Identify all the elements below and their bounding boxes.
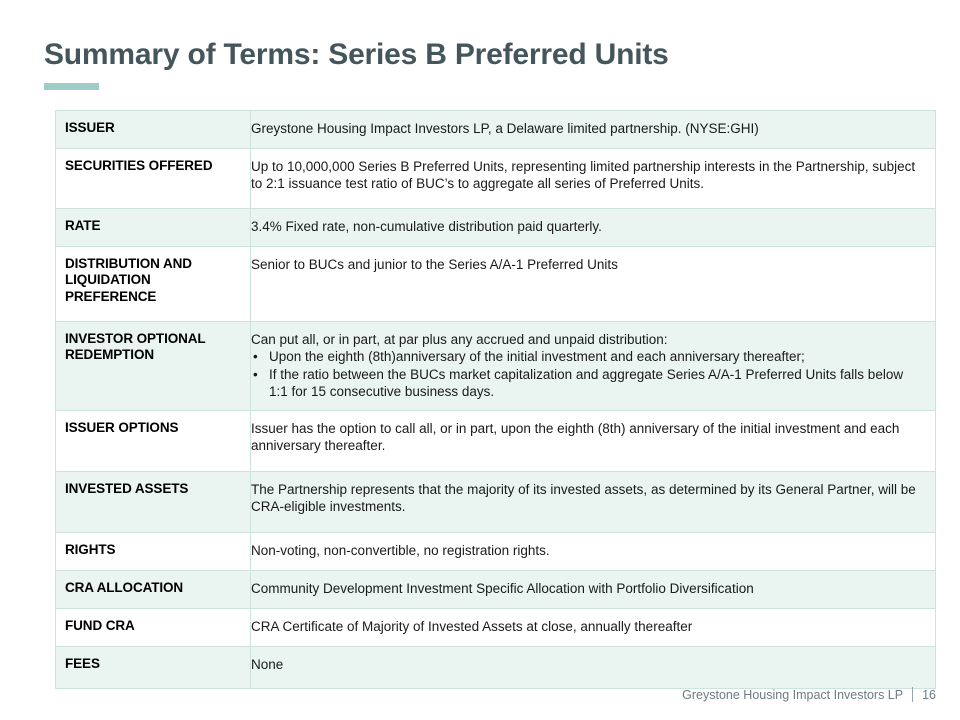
table-row: FUND CRA CRA Certificate of Majority of … — [56, 609, 936, 647]
term-label: RIGHTS — [56, 533, 251, 571]
summary-of-terms-table: ISSUER Greystone Housing Impact Investor… — [55, 110, 936, 689]
bullet-icon: • — [253, 366, 258, 383]
term-label: ISSUER OPTIONS — [56, 411, 251, 472]
term-value-text: CRA Certificate of Majority of Invested … — [251, 618, 925, 635]
table-row: SECURITIES OFFERED Up to 10,000,000 Seri… — [56, 149, 936, 209]
table-row: RATE 3.4% Fixed rate, non-cumulative dis… — [56, 209, 936, 247]
term-value: None — [251, 647, 936, 689]
table-row: CRA ALLOCATION Community Development Inv… — [56, 571, 936, 609]
term-label: RATE — [56, 209, 251, 247]
term-label: INVESTOR OPTIONAL REDEMPTION — [56, 322, 251, 411]
term-value-text: Non-voting, non-convertible, no registra… — [251, 542, 925, 559]
term-value-text: Greystone Housing Impact Investors LP, a… — [251, 120, 925, 137]
footer-divider — [912, 687, 913, 702]
table-row: ISSUER OPTIONS Issuer has the option to … — [56, 411, 936, 472]
term-value: CRA Certificate of Majority of Invested … — [251, 609, 936, 647]
term-value: Senior to BUCs and junior to the Series … — [251, 247, 936, 322]
title-block: Summary of Terms: Series B Preferred Uni… — [44, 38, 669, 90]
term-label: DISTRIBUTION AND LIQUIDATION PREFERENCE — [56, 247, 251, 322]
term-value-text: None — [251, 656, 925, 673]
bullet-icon: • — [253, 348, 258, 365]
footer-company-name: Greystone Housing Impact Investors LP — [682, 688, 903, 702]
term-value-text: 3.4% Fixed rate, non-cumulative distribu… — [251, 218, 925, 235]
list-item: • Upon the eighth (8th)anniversary of th… — [251, 348, 925, 365]
term-value: Community Development Investment Specifi… — [251, 571, 936, 609]
term-value: Up to 10,000,000 Series B Preferred Unit… — [251, 149, 936, 209]
term-value-text: Can put all, or in part, at par plus any… — [251, 331, 925, 348]
list-item-label: If the ratio between the BUCs market cap… — [269, 367, 903, 399]
table-row: DISTRIBUTION AND LIQUIDATION PREFERENCE … — [56, 247, 936, 322]
list-item-label: Upon the eighth (8th)anniversary of the … — [269, 349, 805, 364]
term-label: INVESTED ASSETS — [56, 472, 251, 533]
term-label: SECURITIES OFFERED — [56, 149, 251, 209]
title-accent-bar — [44, 83, 99, 90]
table-row: ISSUER Greystone Housing Impact Investor… — [56, 111, 936, 149]
term-value: 3.4% Fixed rate, non-cumulative distribu… — [251, 209, 936, 247]
term-value-text: Issuer has the option to call all, or in… — [251, 420, 925, 455]
list-item: • If the ratio between the BUCs market c… — [251, 366, 925, 401]
slide: Summary of Terms: Series B Preferred Uni… — [0, 0, 960, 720]
term-label: CRA ALLOCATION — [56, 571, 251, 609]
term-value: Non-voting, non-convertible, no registra… — [251, 533, 936, 571]
term-value: The Partnership represents that the majo… — [251, 472, 936, 533]
slide-footer: Greystone Housing Impact Investors LP 16 — [682, 687, 936, 702]
term-label: FEES — [56, 647, 251, 689]
term-value-bullet-list: • Upon the eighth (8th)anniversary of th… — [251, 348, 925, 400]
page-number: 16 — [922, 688, 936, 702]
term-value-text: Up to 10,000,000 Series B Preferred Unit… — [251, 158, 925, 193]
term-label: ISSUER — [56, 111, 251, 149]
term-value: Greystone Housing Impact Investors LP, a… — [251, 111, 936, 149]
table-row: INVESTOR OPTIONAL REDEMPTION Can put all… — [56, 322, 936, 411]
term-value: Issuer has the option to call all, or in… — [251, 411, 936, 472]
term-value: Can put all, or in part, at par plus any… — [251, 322, 936, 411]
term-value-text: The Partnership represents that the majo… — [251, 481, 925, 516]
table-row: RIGHTS Non-voting, non-convertible, no r… — [56, 533, 936, 571]
term-value-text: Senior to BUCs and junior to the Series … — [251, 256, 925, 273]
table-row: FEES None — [56, 647, 936, 689]
term-value-text: Community Development Investment Specifi… — [251, 580, 925, 597]
table-row: INVESTED ASSETS The Partnership represen… — [56, 472, 936, 533]
table-body: ISSUER Greystone Housing Impact Investor… — [56, 111, 936, 689]
page-title: Summary of Terms: Series B Preferred Uni… — [44, 38, 669, 73]
term-label: FUND CRA — [56, 609, 251, 647]
